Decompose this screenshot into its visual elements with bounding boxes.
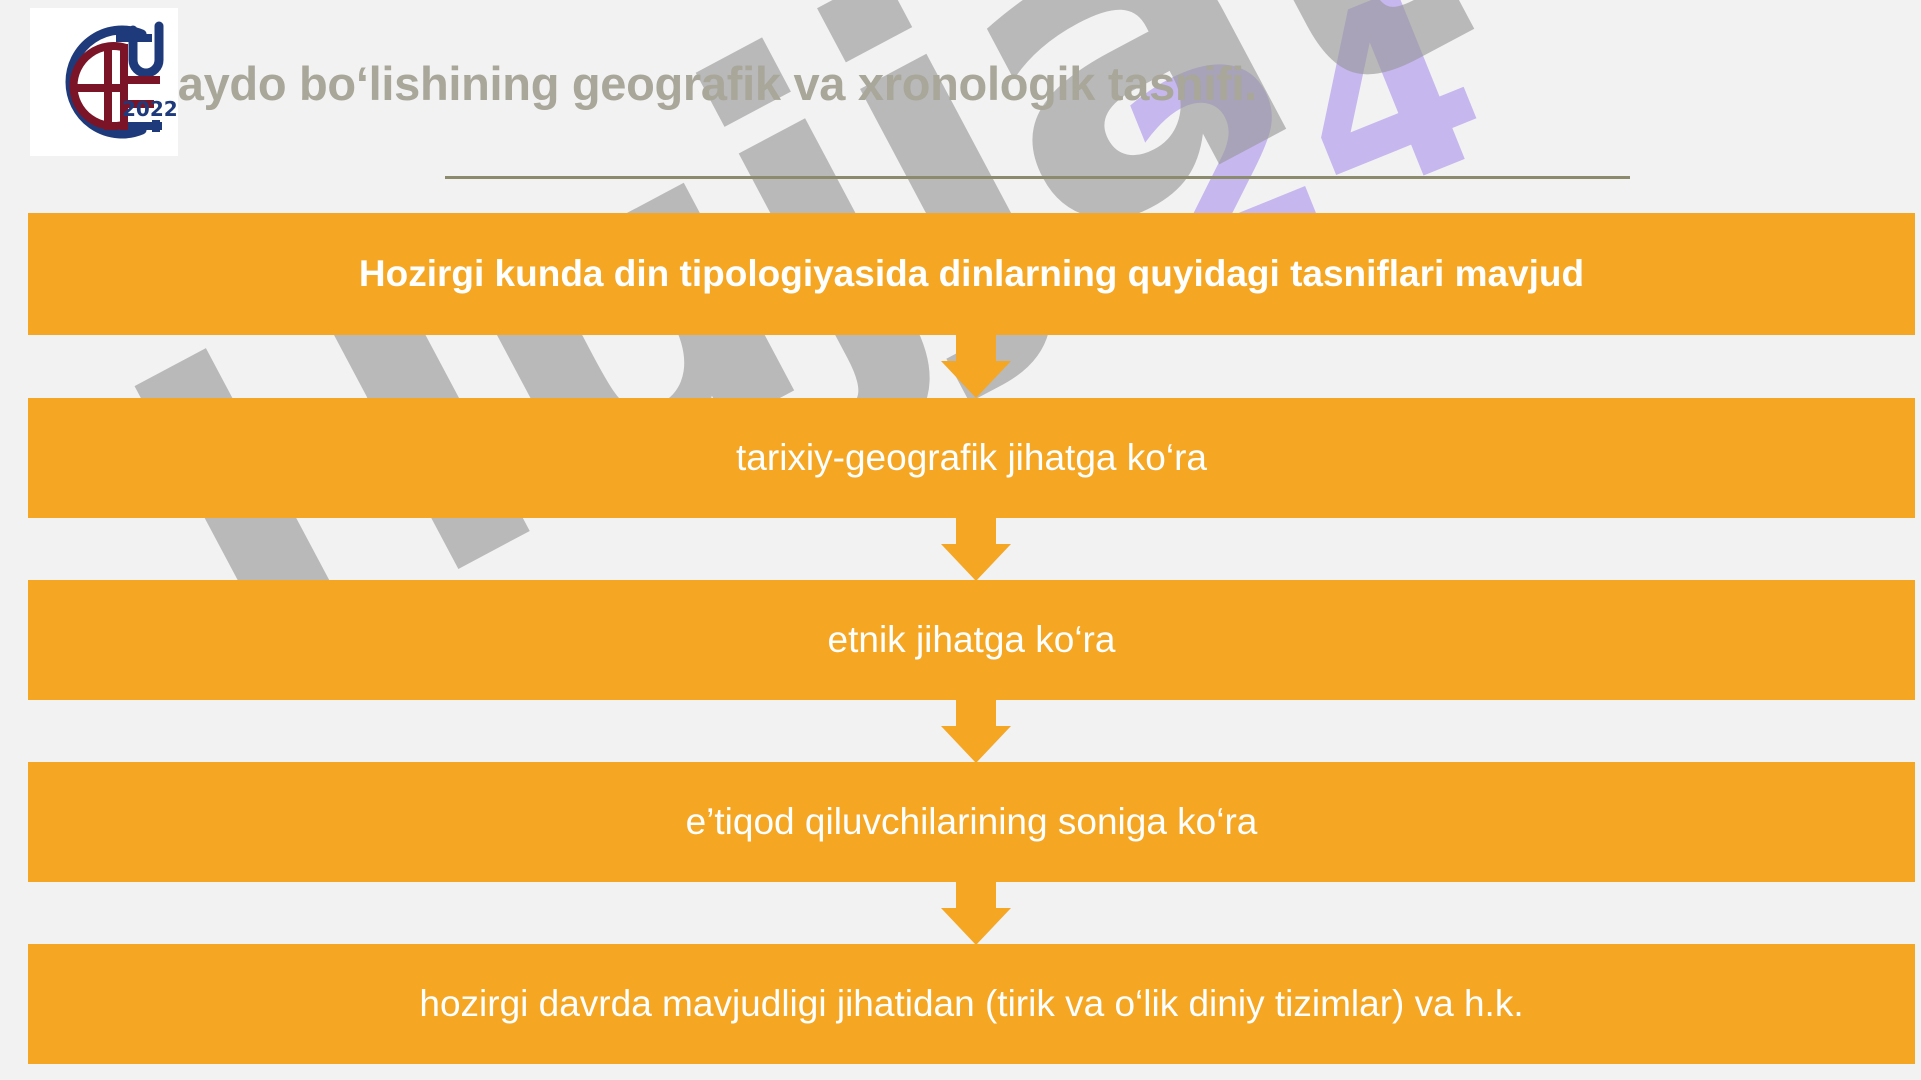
arrow-head [941, 361, 1011, 398]
arrow-down-icon-1 [941, 335, 1011, 398]
arrow-down-icon-3 [941, 700, 1011, 763]
flow-node-label: e’tiqod qiluvchilarining soniga ko‘ra [686, 801, 1258, 844]
emblem-year-text: 2022 [122, 97, 178, 121]
arrow-head [941, 726, 1011, 763]
arrow-down-icon-2 [941, 518, 1011, 581]
flow-node-heading: Hozirgi kunda din tipologiyasida dinlarn… [28, 213, 1915, 335]
flow-diagram: Hozirgi kunda din tipologiyasida dinlarn… [0, 0, 1921, 1080]
flow-node-existence-today: hozirgi davrda mavjudligi jihatidan (tir… [28, 944, 1915, 1064]
arrow-stem [956, 335, 996, 361]
flow-node-label: etnik jihatga ko‘ra [828, 619, 1116, 662]
flow-node-historic-geographic: tarixiy-geografik jihatga ko‘ra [28, 398, 1915, 518]
arrow-stem [956, 882, 996, 908]
page-title: lar paydo bo‘lishining geografik va xron… [80, 56, 1780, 111]
flow-node-label: tarixiy-geografik jihatga ko‘ra [736, 437, 1207, 480]
flow-node-believers-count: e’tiqod qiluvchilarining soniga ko‘ra [28, 762, 1915, 882]
flow-node-label: hozirgi davrda mavjudligi jihatidan (tir… [419, 983, 1523, 1026]
emblem-icon: 2022 [30, 8, 178, 156]
arrow-stem [956, 700, 996, 726]
flow-node-label: Hozirgi kunda din tipologiyasida dinlarn… [359, 253, 1584, 296]
flow-node-ethnic: etnik jihatga ko‘ra [28, 580, 1915, 700]
arrow-stem [956, 518, 996, 544]
arrow-down-icon-4 [941, 882, 1011, 945]
title-underline-rule [445, 176, 1630, 179]
arrow-head [941, 544, 1011, 581]
university-emblem-logo: 2022 [30, 8, 178, 156]
arrow-head [941, 908, 1011, 945]
